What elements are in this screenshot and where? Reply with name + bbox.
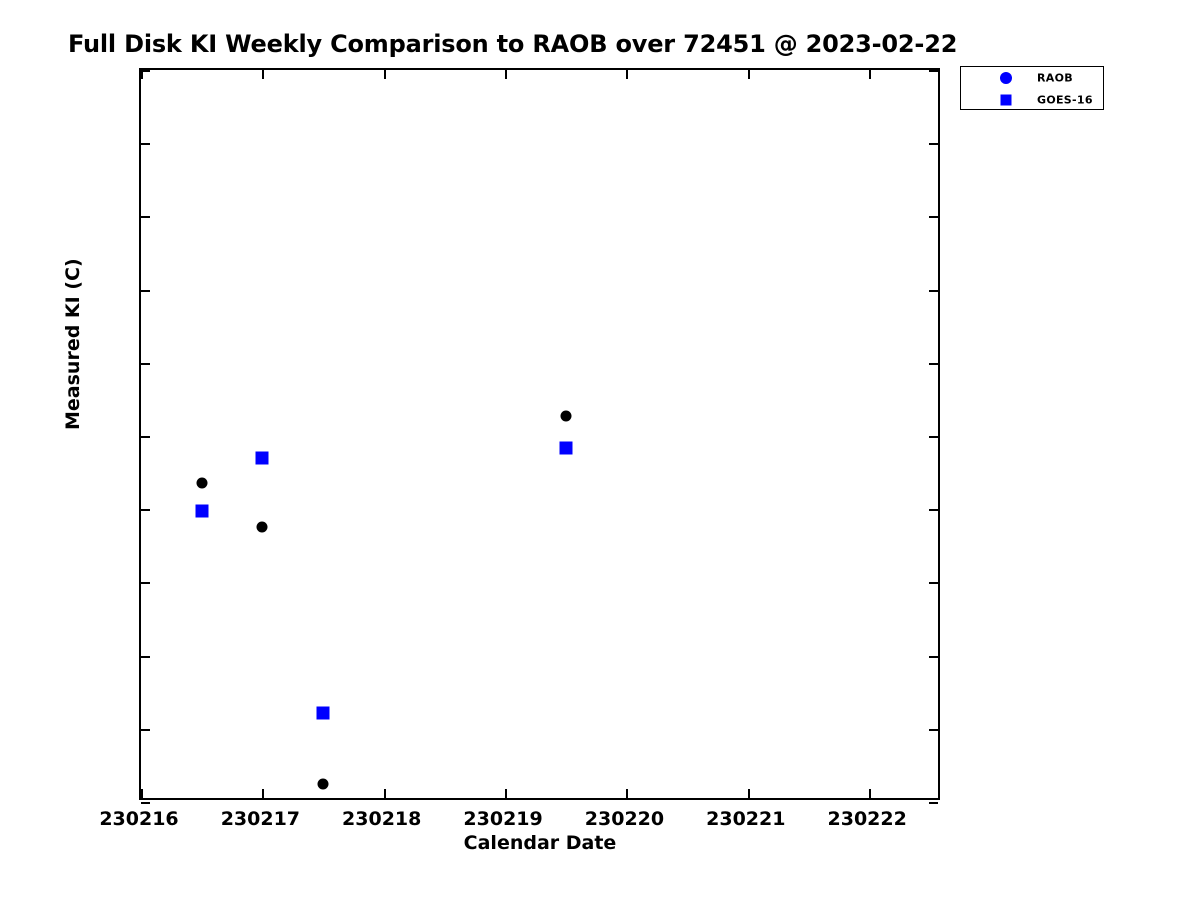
x-tick-label: 230221 (706, 808, 785, 830)
y-tick-mark (141, 216, 150, 218)
y-tick-mark (141, 290, 150, 292)
y-tick-mark (141, 729, 150, 731)
x-tick-mark-top (141, 70, 143, 79)
y-tick-mark (141, 143, 150, 145)
y-tick-mark-right (929, 290, 938, 292)
legend-label: GOES-16 (1037, 94, 1093, 107)
y-tick-mark (141, 436, 150, 438)
y-tick-mark-right (929, 509, 938, 511)
data-point-raob (560, 410, 571, 421)
x-tick-mark (748, 789, 750, 798)
y-tick-mark-right (929, 216, 938, 218)
legend-entry-raob[interactable]: RAOB (961, 67, 1103, 89)
data-point-goes-16 (256, 451, 269, 464)
chart-legend: RAOBGOES-16 (960, 66, 1104, 110)
legend-entry-goes-16[interactable]: GOES-16 (961, 89, 1103, 111)
plot-area (139, 68, 940, 800)
data-point-goes-16 (317, 707, 330, 720)
legend-marker-square-icon (1001, 95, 1012, 106)
x-axis-title: Calendar Date (464, 832, 617, 854)
y-tick-mark (141, 656, 150, 658)
y-tick-mark-right (929, 582, 938, 584)
x-tick-label: 230216 (99, 808, 178, 830)
x-tick-label: 230219 (463, 808, 542, 830)
x-tick-mark-top (384, 70, 386, 79)
x-tick-label: 230218 (342, 808, 421, 830)
y-tick-mark-right (929, 729, 938, 731)
y-tick-mark-right (929, 143, 938, 145)
legend-marker-circle-icon (1000, 72, 1012, 84)
x-tick-label: 230220 (585, 808, 664, 830)
y-tick-mark-right (929, 436, 938, 438)
data-point-goes-16 (195, 504, 208, 517)
y-tick-mark (141, 802, 150, 804)
x-tick-label: 230217 (221, 808, 300, 830)
data-point-raob (257, 521, 268, 532)
y-tick-mark-right (929, 656, 938, 658)
x-tick-mark (262, 789, 264, 798)
x-tick-mark-top (262, 70, 264, 79)
x-tick-mark (626, 789, 628, 798)
legend-label: RAOB (1037, 72, 1073, 85)
x-tick-mark-top (626, 70, 628, 79)
x-tick-label: 230222 (828, 808, 907, 830)
data-point-raob (196, 477, 207, 488)
y-tick-mark-right (929, 363, 938, 365)
y-axis-title: Measured KI (C) (62, 258, 84, 430)
x-tick-mark-top (869, 70, 871, 79)
y-tick-mark (141, 363, 150, 365)
x-tick-mark (505, 789, 507, 798)
x-tick-mark-top (748, 70, 750, 79)
y-tick-mark-right (929, 802, 938, 804)
chart-figure: Full Disk KI Weekly Comparison to RAOB o… (0, 0, 1200, 900)
data-point-raob (318, 778, 329, 789)
x-tick-mark-top (505, 70, 507, 79)
x-tick-mark (869, 789, 871, 798)
x-tick-mark (384, 789, 386, 798)
chart-title: Full Disk KI Weekly Comparison to RAOB o… (68, 30, 957, 58)
y-tick-mark (141, 509, 150, 511)
data-point-goes-16 (559, 442, 572, 455)
y-tick-mark (141, 582, 150, 584)
y-tick-mark-right (929, 70, 938, 72)
x-tick-mark (141, 789, 143, 798)
